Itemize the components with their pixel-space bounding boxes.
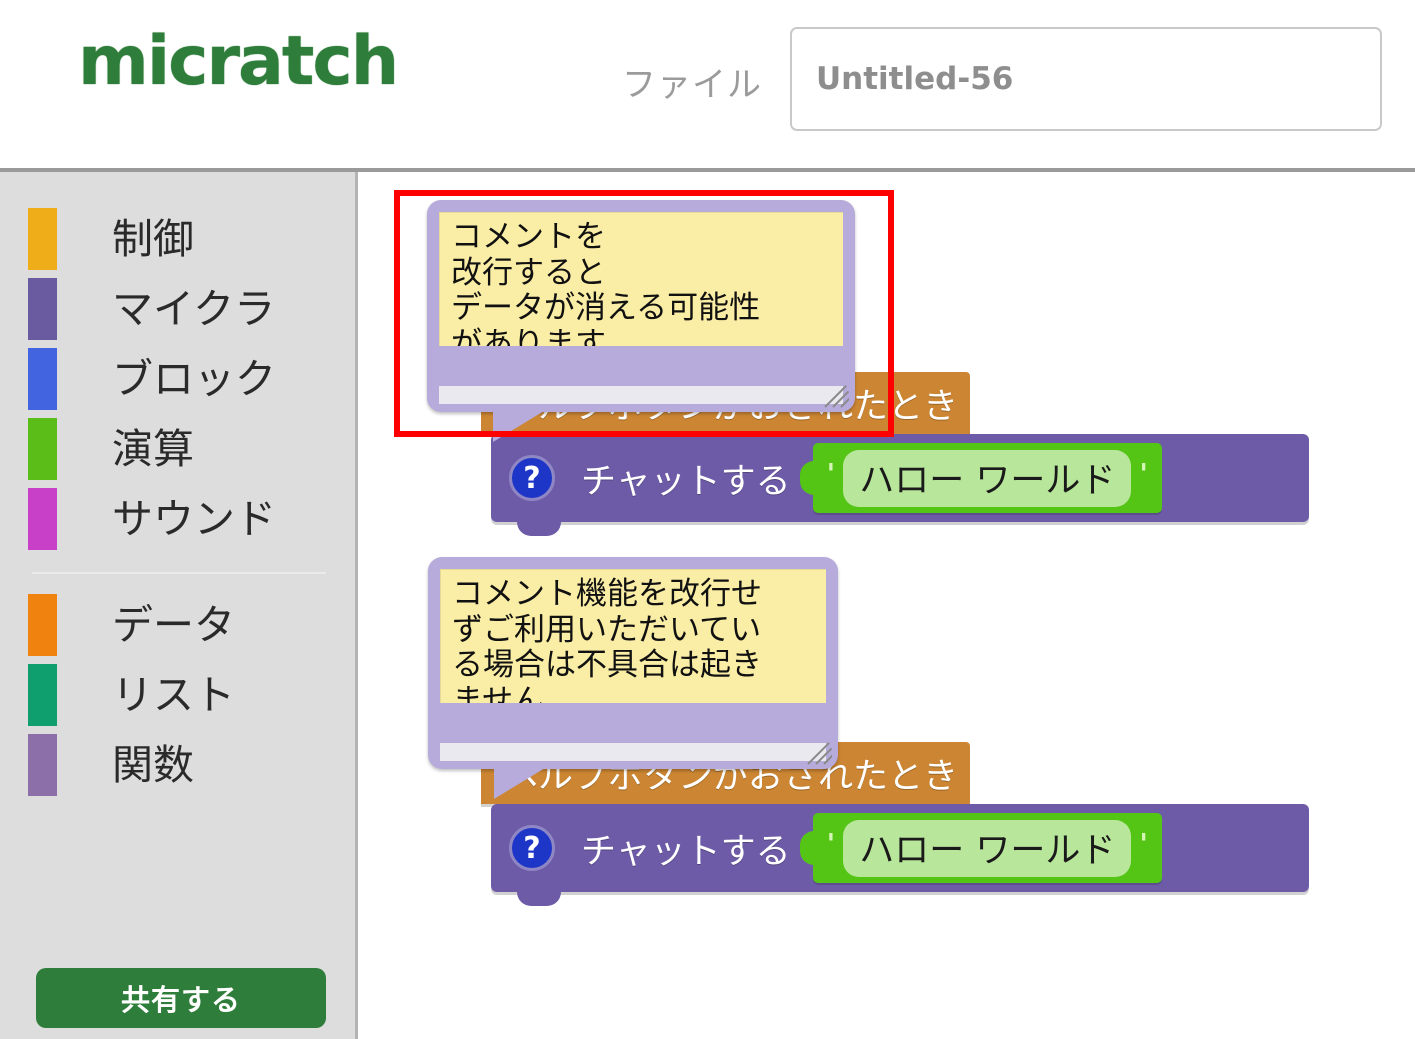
sidebar-item-label: リスト [112, 675, 235, 716]
app-header: micratch ファイル [0, 0, 1415, 172]
sidebar-item-label: データ [112, 605, 235, 646]
comment-bubble[interactable]: コメント機能を改行せ ずご利用いただいてい る場合は不具合は起き ません。 [428, 557, 838, 769]
chat-block[interactable]: ? チャットする ' ハロー ワールド ' [491, 804, 1309, 892]
sidebar-item-function[interactable]: 関数 [0, 730, 358, 800]
script-canvas[interactable]: ヘルプボタンがおされたとき ? チャットする ' ハロー ワールド ' コメント… [358, 172, 1415, 1039]
sidebar-item-label: 関数 [112, 745, 194, 786]
comment-body: コメント機能を改行せ ずご利用いただいてい る場合は不具合は起き ません。 [440, 569, 826, 703]
sidebar-item-label: マイクラ [112, 289, 275, 330]
close-quote: ' [1139, 460, 1148, 496]
close-quote: ' [1139, 830, 1148, 866]
sidebar-item-list[interactable]: リスト [0, 660, 358, 730]
comment-body: コメントを 改行すると データが消える可能性 があります。 [439, 212, 843, 346]
sidebar-item-sound[interactable]: サウンド [0, 484, 358, 554]
sidebar-item-data[interactable]: データ [0, 590, 358, 660]
sidebar-item-block[interactable]: ブロック [0, 344, 358, 414]
sidebar-item-label: サウンド [112, 499, 276, 540]
chat-block-label: チャットする [581, 823, 791, 874]
category-sidebar: 制御 マイクラ ブロック 演算 サウンド データ リスト [0, 172, 358, 1039]
chat-block[interactable]: ? チャットする ' ハロー ワールド ' [491, 434, 1309, 522]
comment-footer [439, 386, 843, 404]
chat-block-label: チャットする [581, 453, 791, 504]
comment-tail [493, 408, 549, 442]
comment-footer [440, 743, 826, 761]
string-input[interactable]: ハロー ワールド [843, 450, 1131, 507]
file-name-input[interactable] [790, 27, 1382, 131]
sidebar-item-label: 演算 [112, 429, 194, 470]
sidebar-separator [32, 572, 326, 574]
comment-text: コメント機能を改行せ ずご利用いただいてい る場合は不具合は起き ません。 [452, 577, 816, 703]
sound-color-swatch [28, 488, 57, 550]
comment-tail [494, 765, 550, 799]
minecraft-color-swatch [28, 278, 57, 340]
comment-resize-handle[interactable] [823, 382, 849, 408]
string-literal-block[interactable]: ' ハロー ワールド ' [813, 813, 1162, 883]
app-logo: micratch [78, 28, 397, 96]
control-color-swatch [28, 208, 57, 270]
string-literal-block[interactable]: ' ハロー ワールド ' [813, 443, 1162, 513]
data-color-swatch [28, 594, 57, 656]
comment-text: コメントを 改行すると データが消える可能性 があります。 [451, 220, 833, 346]
comment-resize-handle[interactable] [806, 739, 832, 765]
file-label: ファイル [622, 57, 762, 106]
function-color-swatch [28, 734, 57, 796]
help-icon[interactable]: ? [509, 455, 555, 501]
help-icon[interactable]: ? [509, 825, 555, 871]
list-color-swatch [28, 664, 57, 726]
sidebar-item-control[interactable]: 制御 [0, 204, 358, 274]
operator-color-swatch [28, 418, 57, 480]
sidebar-item-operator[interactable]: 演算 [0, 414, 358, 484]
open-quote: ' [827, 830, 836, 866]
share-button[interactable]: 共有する [36, 968, 326, 1028]
string-input[interactable]: ハロー ワールド [843, 820, 1131, 877]
sidebar-item-label: ブロック [112, 359, 276, 400]
sidebar-item-label: 制御 [112, 219, 194, 260]
comment-bubble[interactable]: コメントを 改行すると データが消える可能性 があります。 [427, 200, 855, 412]
app-root: micratch ファイル 制御 マイクラ ブロック 演算 サウンド デ [0, 0, 1415, 1039]
block-color-swatch [28, 348, 57, 410]
sidebar-item-minecraft[interactable]: マイクラ [0, 274, 358, 344]
open-quote: ' [827, 460, 836, 496]
